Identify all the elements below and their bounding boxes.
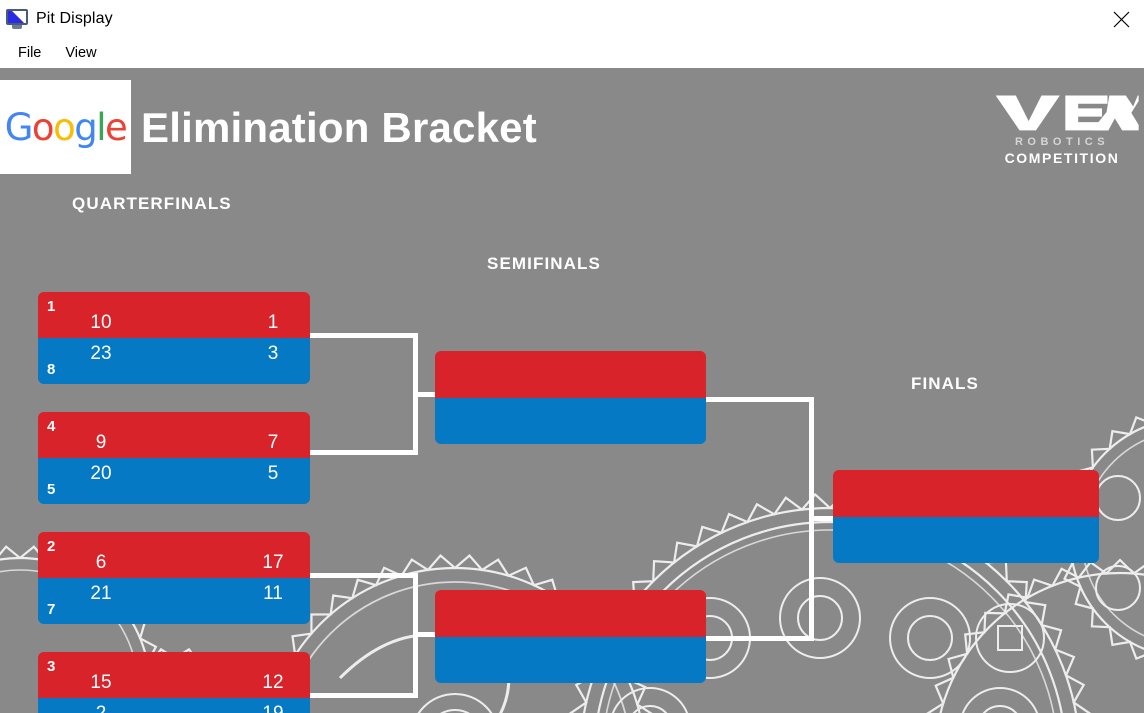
alliance-red[interactable]: 4 9 7 — [38, 412, 310, 458]
match-qf4[interactable]: 4 9 7 5 20 5 — [38, 412, 310, 504]
match-qf2[interactable]: 2 6 17 7 21 11 — [38, 532, 310, 624]
team-number: 23 — [88, 344, 114, 363]
alliance-blue[interactable] — [435, 637, 706, 683]
seed-number: 3 — [47, 659, 55, 674]
pit-display-window: Pit Display File View — [0, 0, 1144, 713]
menu-view[interactable]: View — [55, 41, 106, 65]
round-label-finals: FINALS — [911, 374, 979, 394]
score-value: 17 — [260, 553, 286, 572]
menu-bar: File View — [0, 38, 1144, 68]
bracket-header: Google Elimination Bracket ROBOTICS COMP… — [0, 68, 1144, 178]
connector-qf2-horizontal — [308, 573, 418, 578]
alliance-blue[interactable]: 6 2 19 — [38, 698, 310, 713]
alliance-red[interactable] — [435, 590, 706, 637]
alliance-blue[interactable] — [833, 517, 1099, 563]
alliance-red[interactable]: 3 15 12 — [38, 652, 310, 698]
score-value: 5 — [260, 464, 286, 483]
connector-qf4-horizontal — [308, 450, 418, 455]
alliance-blue[interactable] — [435, 398, 706, 444]
connector-qf1-horizontal — [308, 333, 418, 338]
alliance-red[interactable] — [833, 470, 1099, 517]
vex-logo: ROBOTICS COMPETITION — [992, 90, 1132, 166]
match-sf2[interactable] — [435, 590, 706, 683]
bracket-canvas: Google Elimination Bracket ROBOTICS COMP… — [0, 68, 1144, 713]
seed-number: 8 — [47, 362, 55, 377]
alliance-blue[interactable]: 5 20 5 — [38, 458, 310, 504]
alliance-red[interactable]: 2 6 17 — [38, 532, 310, 578]
round-label-quarterfinals: QUARTERFINALS — [72, 194, 232, 214]
alliance-red[interactable] — [435, 351, 706, 398]
score-value: 12 — [260, 673, 286, 692]
team-number: 9 — [88, 433, 114, 452]
vex-wordmark-icon — [992, 90, 1139, 134]
seed-number: 7 — [47, 602, 55, 617]
match-qf1[interactable]: 1 10 1 8 23 3 — [38, 292, 310, 384]
monitor-icon — [6, 9, 28, 29]
close-icon[interactable] — [1098, 0, 1144, 38]
team-number: 15 — [88, 673, 114, 692]
page-title: Elimination Bracket — [141, 104, 537, 152]
window-title: Pit Display — [36, 10, 113, 28]
score-value: 3 — [260, 344, 286, 363]
connector-sf1-horizontal — [704, 397, 814, 402]
menu-file[interactable]: File — [8, 41, 51, 65]
alliance-blue[interactable]: 7 21 11 — [38, 578, 310, 624]
team-number: 20 — [88, 464, 114, 483]
seed-number: 5 — [47, 482, 55, 497]
sponsor-logo-panel: Google — [0, 80, 131, 174]
team-number: 10 — [88, 313, 114, 332]
match-sf1[interactable] — [435, 351, 706, 444]
seed-number: 1 — [47, 299, 55, 314]
vex-robotics-label: ROBOTICS — [992, 136, 1132, 148]
team-number: 6 — [88, 553, 114, 572]
seed-number: 4 — [47, 419, 55, 434]
vex-competition-label: COMPETITION — [992, 150, 1132, 166]
round-label-semifinals: SEMIFINALS — [487, 254, 601, 274]
alliance-red[interactable]: 1 10 1 — [38, 292, 310, 338]
team-number: 2 — [88, 704, 114, 713]
alliance-blue[interactable]: 8 23 3 — [38, 338, 310, 384]
connector-qf3-horizontal — [308, 693, 418, 698]
match-qf3[interactable]: 3 15 12 6 2 19 — [38, 652, 310, 713]
match-f1[interactable] — [833, 470, 1099, 563]
connector-sf2-horizontal — [704, 636, 814, 641]
score-value: 7 — [260, 433, 286, 452]
score-value: 1 — [260, 313, 286, 332]
seed-number: 2 — [47, 539, 55, 554]
title-bar: Pit Display — [0, 0, 1144, 38]
team-number: 21 — [88, 584, 114, 603]
score-value: 11 — [260, 584, 286, 603]
score-value: 19 — [260, 704, 286, 713]
google-logo: Google — [5, 109, 127, 146]
